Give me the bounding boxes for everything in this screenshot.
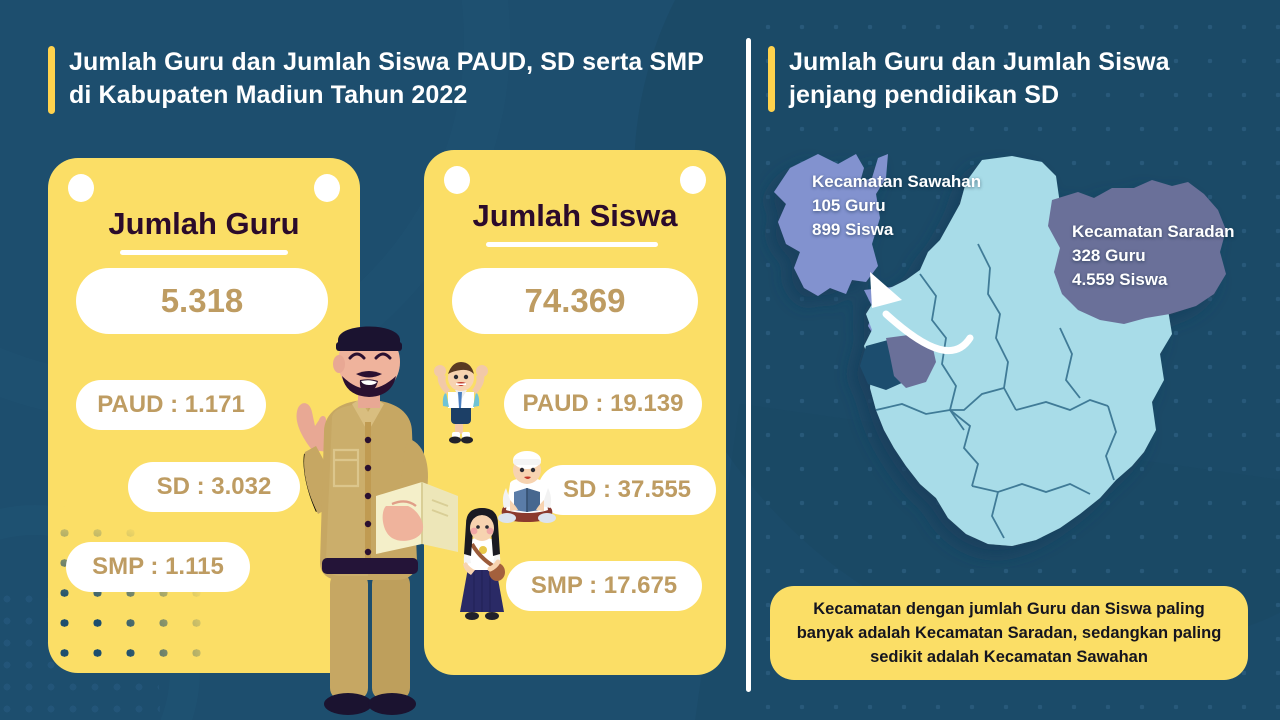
- heading-accent-bar: [768, 46, 775, 112]
- map-label-sawahan-students: 899 Siswa: [812, 218, 1042, 242]
- map-label-sawahan-name: Kecamatan Sawahan: [812, 170, 1042, 194]
- card-title-guru: Jumlah Guru: [48, 206, 360, 242]
- siswa-paud-chip: PAUD : 19.139: [504, 379, 702, 429]
- guru-smp-chip: SMP : 1.115: [66, 542, 250, 592]
- heading-accent-bar: [48, 46, 55, 114]
- siswa-total-value: 74.369: [452, 268, 698, 334]
- map-caption-text: Kecamatan dengan jumlah Guru dan Siswa p…: [786, 597, 1232, 669]
- map-label-sawahan-teachers: 105 Guru: [812, 194, 1042, 218]
- card-hole-left-icon: [444, 166, 470, 194]
- card-title-underline: [486, 242, 658, 247]
- map-label-saradan-students: 4.559 Siswa: [1072, 268, 1280, 292]
- map-label-sawahan: Kecamatan Sawahan 105 Guru 899 Siswa: [812, 170, 1042, 242]
- right-panel-heading: Jumlah Guru dan Jumlah Siswa jenjang pen…: [768, 46, 1238, 112]
- student-cheering-icon: [430, 358, 492, 444]
- panel-divider: [746, 38, 751, 692]
- card-title-siswa: Jumlah Siswa: [424, 198, 726, 234]
- card-hole-right-icon: [314, 174, 340, 202]
- card-hole-left-icon: [68, 174, 94, 202]
- infographic-stage: Jumlah Guru dan Jumlah Siswa PAUD, SD se…: [0, 0, 1280, 720]
- left-panel-title: Jumlah Guru dan Jumlah Siswa PAUD, SD se…: [69, 46, 708, 112]
- siswa-smp-chip: SMP : 17.675: [506, 561, 702, 611]
- card-title-underline: [120, 250, 288, 255]
- left-panel-heading: Jumlah Guru dan Jumlah Siswa PAUD, SD se…: [48, 46, 708, 114]
- right-panel-title: Jumlah Guru dan Jumlah Siswa jenjang pen…: [789, 46, 1238, 112]
- map-label-saradan-teachers: 328 Guru: [1072, 244, 1280, 268]
- guru-paud-chip: PAUD : 1.171: [76, 380, 266, 430]
- student-girl-icon: [452, 506, 512, 626]
- map-label-saradan: Kecamatan Saradan 328 Guru 4.559 Siswa: [1072, 220, 1280, 292]
- siswa-sd-chip: SD : 37.555: [538, 465, 716, 515]
- map-label-saradan-name: Kecamatan Saradan: [1072, 220, 1280, 244]
- map-caption-box: Kecamatan dengan jumlah Guru dan Siswa p…: [770, 586, 1248, 680]
- card-hole-right-icon: [680, 166, 706, 194]
